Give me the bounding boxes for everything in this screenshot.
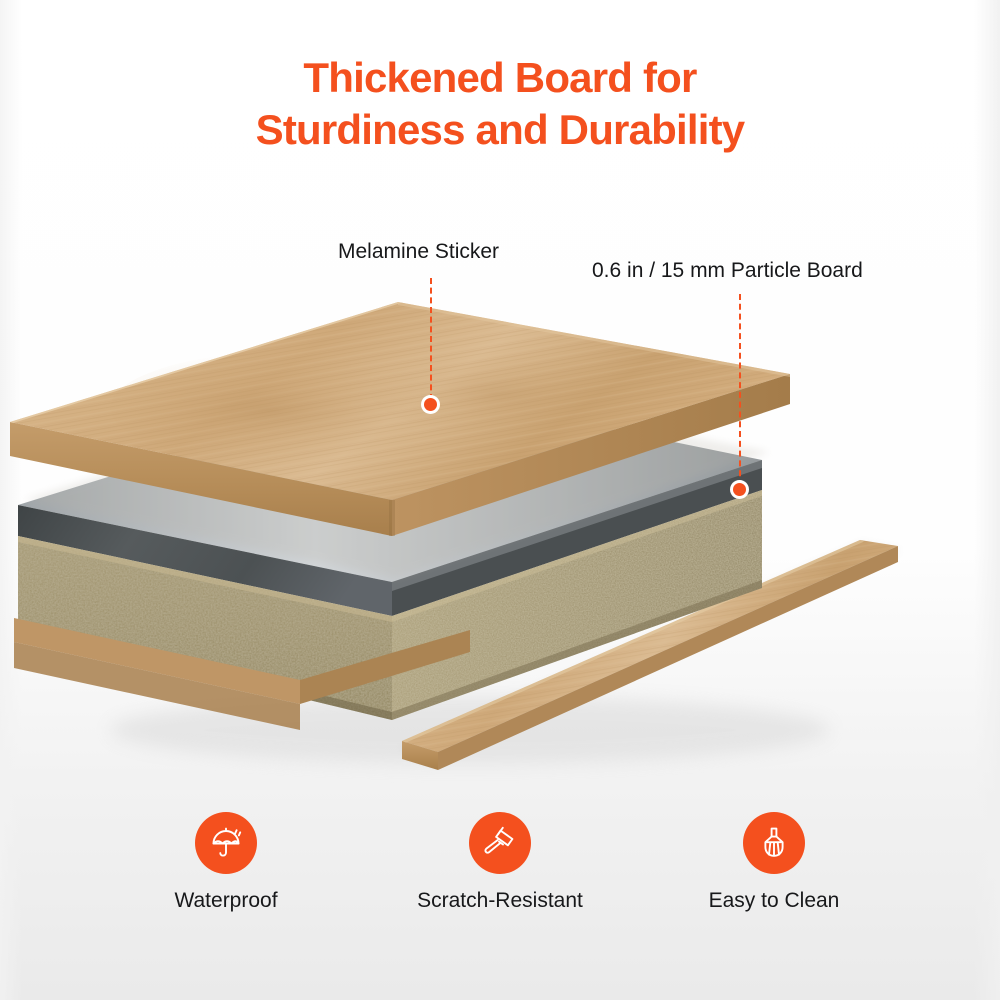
title-line-1: Thickened Board for (0, 52, 1000, 104)
callout-label-melamine-sticker: Melamine Sticker (338, 239, 499, 265)
infographic-page: Thickened Board for Sturdiness and Durab… (0, 0, 1000, 1000)
page-title: Thickened Board for Sturdiness and Durab… (0, 52, 1000, 156)
feature-label-waterproof: Waterproof (174, 888, 277, 914)
board-illustration (0, 300, 1000, 800)
feature-list: Waterproof Scratch-Resistant (0, 812, 1000, 914)
hammer-badge (469, 812, 531, 874)
broom-badge (743, 812, 805, 874)
feature-waterproof: Waterproof (141, 812, 311, 914)
umbrella-icon (207, 824, 245, 862)
leader-dot-particle-board (733, 483, 746, 496)
feature-scratch-resistant: Scratch-Resistant (415, 812, 585, 914)
feature-label-easy-to-clean: Easy to Clean (709, 888, 840, 914)
hammer-icon (481, 824, 519, 862)
leader-line-particle-board (739, 294, 741, 486)
callout-label-particle-board: 0.6 in / 15 mm Particle Board (592, 258, 863, 284)
leader-dot-melamine (424, 398, 437, 411)
umbrella-badge (195, 812, 257, 874)
broom-icon (755, 824, 793, 862)
leader-line-melamine (430, 278, 432, 400)
feature-easy-to-clean: Easy to Clean (689, 812, 859, 914)
title-line-2: Sturdiness and Durability (0, 104, 1000, 156)
feature-label-scratch-resistant: Scratch-Resistant (417, 888, 583, 914)
